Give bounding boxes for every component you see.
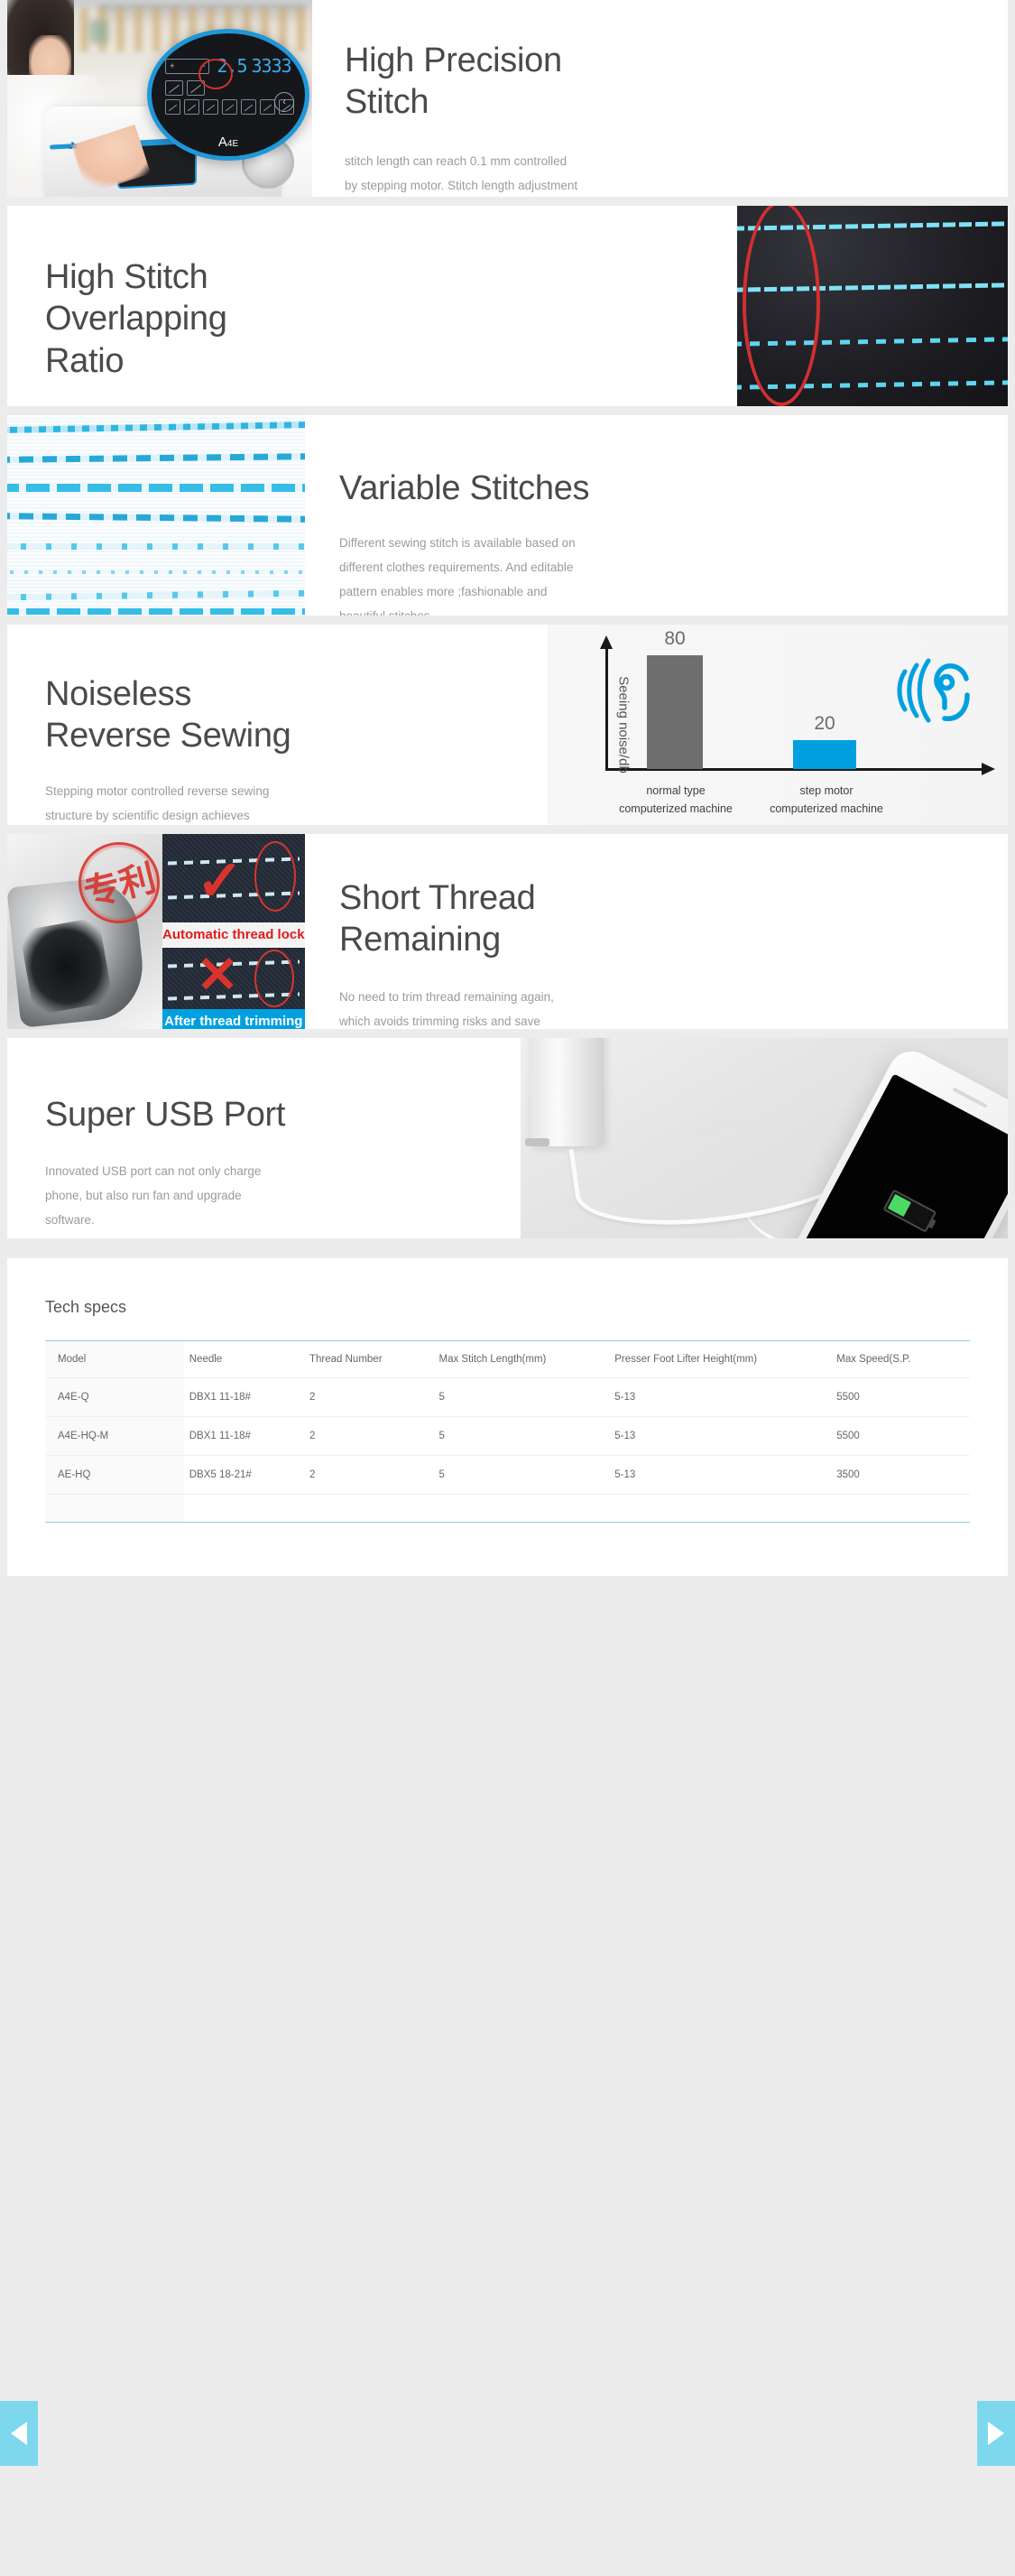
cell-thread-number: 2 bbox=[304, 1378, 434, 1417]
panel-button[interactable] bbox=[165, 99, 180, 115]
panel-button[interactable] bbox=[222, 99, 237, 115]
cell-max-speed: 5500 bbox=[831, 1417, 970, 1456]
highlight-circle bbox=[254, 950, 294, 1007]
feature-card-high-stitch-overlapping-ratio: High Stitch Overlapping Ratio Overlappin… bbox=[7, 206, 1008, 406]
cell-presser-foot-height: 5-13 bbox=[609, 1417, 831, 1456]
cell-presser-foot-height: 5-13 bbox=[609, 1456, 831, 1495]
feature-card-noiseless-reverse-sewing: Noiseless Reverse Sewing Stepping motor … bbox=[7, 625, 1008, 825]
feature-body: Overlapping stitch can be perfectly real… bbox=[45, 403, 289, 406]
cross-icon: ✕ bbox=[197, 950, 239, 1000]
table-header-max-speed: Max Speed(S.P. bbox=[831, 1341, 970, 1378]
cell-needle: DBX5 18-21# bbox=[184, 1456, 304, 1495]
highlight-circle bbox=[254, 841, 296, 912]
table-header-presser-foot-height: Presser Foot Lifter Height(mm) bbox=[609, 1341, 831, 1378]
feature-title: Super USB Port bbox=[45, 1094, 316, 1135]
feature-text-high-stitch-overlapping-ratio: High Stitch Overlapping Ratio Overlappin… bbox=[7, 206, 737, 406]
cell-model: A4E-HQ-M bbox=[45, 1417, 184, 1456]
chart-category-label: normal type computerized machine bbox=[613, 783, 739, 818]
table-header-thread-number: Thread Number bbox=[304, 1341, 434, 1378]
carousel-next-button[interactable] bbox=[977, 2401, 1015, 2466]
highlight-ellipse bbox=[743, 206, 820, 406]
ear-sound-icon bbox=[890, 655, 973, 726]
feature-image-high-stitch-overlapping-ratio bbox=[737, 206, 1008, 406]
feature-card-high-precision-stitch: Jack + − bbox=[7, 0, 1008, 197]
feature-title: High Precision Stitch bbox=[345, 40, 579, 124]
feature-text-high-precision-stitch: High Precision Stitch stitch length can … bbox=[312, 0, 1008, 197]
cell-model: AE-HQ bbox=[45, 1456, 184, 1495]
tech-specs-table: Model Needle Thread Number Max Stitch Le… bbox=[45, 1340, 970, 1523]
table-header-model: Model bbox=[45, 1341, 184, 1378]
cell-thread-number: 2 bbox=[304, 1417, 434, 1456]
noise-comparison-chart: Seeing noise/db 80 normal type computeri… bbox=[548, 625, 1008, 825]
feature-text-variable-stitches: Variable Stitches Different sewing stitc… bbox=[305, 415, 1008, 616]
cell-needle: DBX1 11-18# bbox=[184, 1417, 304, 1456]
cell-needle: DBX1 11-18# bbox=[184, 1378, 304, 1417]
feature-text-super-usb-port: Super USB Port Innovated USB port can no… bbox=[7, 1038, 521, 1238]
chart-bar-value: 20 bbox=[793, 713, 856, 735]
tech-specs-section: Tech specs Model Needle Thread Number Ma… bbox=[7, 1258, 1008, 1576]
cell-max-stitch-length: 5 bbox=[434, 1378, 610, 1417]
triangle-left-icon bbox=[11, 2422, 27, 2445]
chart-bar-value: 80 bbox=[647, 628, 703, 650]
table-header-needle: Needle bbox=[184, 1341, 304, 1378]
chart-bar-normal-type: 80 bbox=[647, 655, 703, 769]
chart-y-axis-label: Seeing noise/db bbox=[615, 676, 631, 774]
feature-card-super-usb-port: Super USB Port Innovated USB port can no… bbox=[7, 1038, 1008, 1238]
carousel-prev-button[interactable] bbox=[0, 2401, 38, 2466]
table-row: A4E-HQ-M DBX1 11-18# 2 5 5-13 5500 bbox=[45, 1417, 970, 1456]
control-panel-callout: + − 2.5 3333 bbox=[147, 29, 309, 161]
product-feature-page: Jack + − bbox=[0, 0, 1015, 2576]
feature-text-noiseless-reverse-sewing: Noiseless Reverse Sewing Stepping motor … bbox=[7, 625, 548, 825]
cell-max-speed: 5500 bbox=[831, 1378, 970, 1417]
feature-title: Noiseless Reverse Sewing bbox=[45, 673, 307, 757]
feature-card-variable-stitches: Variable Stitches Different sewing stitc… bbox=[7, 415, 1008, 616]
feature-title: Variable Stitches bbox=[339, 468, 610, 509]
panel-button[interactable] bbox=[260, 99, 275, 115]
chart-y-axis bbox=[605, 648, 608, 771]
battery-charging-icon bbox=[882, 1190, 937, 1233]
table-row: A4E-Q DBX1 11-18# 2 5 5-13 5500 bbox=[45, 1378, 970, 1417]
feature-body: No need to trim thread remaining again, … bbox=[339, 985, 569, 1029]
cell-thread-number: 2 bbox=[304, 1456, 434, 1495]
panel-button[interactable] bbox=[165, 80, 183, 96]
feature-body: Stepping motor controlled reverse sewing… bbox=[45, 779, 284, 825]
tech-specs-title: Tech specs bbox=[45, 1298, 970, 1317]
table-header-row: Model Needle Thread Number Max Stitch Le… bbox=[45, 1341, 970, 1378]
thread-trimming-photo: ✕ bbox=[162, 948, 305, 1009]
panel-button[interactable] bbox=[203, 99, 218, 115]
panel-button[interactable] bbox=[241, 99, 256, 115]
cell-max-stitch-length: 5 bbox=[434, 1417, 610, 1456]
table-spacer-row bbox=[45, 1495, 970, 1523]
panel-model-label: A4E bbox=[152, 134, 305, 150]
panel-button[interactable] bbox=[184, 99, 199, 115]
thread-lock-caption: Automatic thread lock bbox=[162, 922, 305, 947]
cell-max-stitch-length: 5 bbox=[434, 1456, 610, 1495]
thread-lock-photo: ✓ bbox=[162, 834, 305, 922]
table-row: AE-HQ DBX5 18-21# 2 5 5-13 3500 bbox=[45, 1456, 970, 1495]
feature-title: Short Thread Remaining bbox=[339, 877, 574, 961]
thread-trimming-caption: After thread trimming bbox=[162, 1009, 305, 1029]
check-icon: ✓ bbox=[197, 854, 244, 910]
lcd-secondary: 3333 bbox=[252, 55, 291, 77]
feature-image-high-precision-stitch: Jack + − bbox=[7, 0, 312, 197]
cell-presser-foot-height: 5-13 bbox=[609, 1378, 831, 1417]
chart-bar-step-motor: 20 bbox=[793, 740, 856, 769]
feature-card-short-thread-remaining: 专利 ✓ Automatic thread lock bbox=[7, 834, 1008, 1029]
feature-text-short-thread-remaining: Short Thread Remaining No need to trim t… bbox=[305, 834, 1008, 1029]
highlight-circle bbox=[198, 59, 233, 89]
feature-body: Different sewing stitch is available bas… bbox=[339, 531, 578, 616]
cell-model: A4E-Q bbox=[45, 1378, 184, 1417]
feature-body: stitch length can reach 0.1 mm controlle… bbox=[345, 149, 579, 197]
feature-image-short-thread-remaining: 专利 ✓ Automatic thread lock bbox=[7, 834, 305, 1029]
cell-max-speed: 3500 bbox=[831, 1456, 970, 1495]
feature-image-super-usb-port bbox=[521, 1038, 1008, 1238]
feature-title: High Stitch Overlapping Ratio bbox=[45, 256, 298, 382]
feature-body: Innovated USB port can not only charge p… bbox=[45, 1159, 271, 1232]
chart-category-label: step motor computerized machine bbox=[760, 783, 893, 818]
table-header-max-stitch-length: Max Stitch Length(mm) bbox=[434, 1341, 610, 1378]
plus-icon: + bbox=[170, 61, 174, 70]
triangle-right-icon bbox=[988, 2422, 1004, 2445]
feature-image-variable-stitches bbox=[7, 415, 305, 616]
